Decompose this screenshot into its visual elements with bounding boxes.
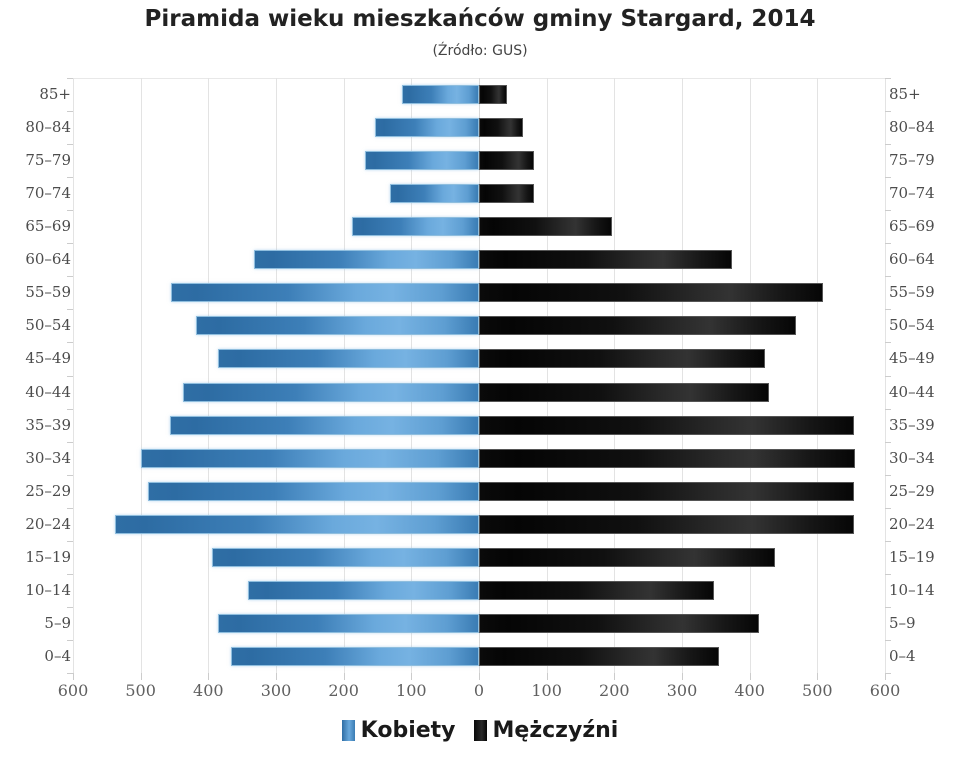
pyramid-row bbox=[73, 607, 885, 640]
bar-kobiety[interactable] bbox=[141, 449, 479, 468]
bar-kobiety[interactable] bbox=[115, 515, 479, 534]
bar-mezczyzni[interactable] bbox=[479, 383, 769, 402]
age-group-label-right: 45–49 bbox=[889, 342, 935, 375]
y-axis-tick-right bbox=[885, 673, 891, 674]
age-group-label-left: 45–49 bbox=[25, 342, 71, 375]
pyramid-row bbox=[73, 541, 885, 574]
legend-label: Kobiety bbox=[361, 718, 456, 743]
age-group-label-right: 60–64 bbox=[889, 243, 935, 276]
bar-kobiety[interactable] bbox=[196, 316, 479, 335]
x-axis-tick bbox=[276, 673, 277, 680]
x-axis-tick bbox=[614, 673, 615, 680]
age-group-label-right: 30–34 bbox=[889, 442, 935, 475]
x-axis-label: 600 bbox=[855, 681, 915, 700]
bar-kobiety[interactable] bbox=[375, 118, 479, 137]
pyramid-row bbox=[73, 409, 885, 442]
x-axis-label: 500 bbox=[111, 681, 171, 700]
x-axis-tick bbox=[208, 673, 209, 680]
bar-mezczyzni[interactable] bbox=[479, 316, 796, 335]
age-group-label-right: 70–74 bbox=[889, 177, 935, 210]
x-axis-label: 400 bbox=[720, 681, 780, 700]
age-group-label-left: 5–9 bbox=[44, 607, 71, 640]
pyramid-row bbox=[73, 508, 885, 541]
bar-mezczyzni[interactable] bbox=[479, 184, 534, 203]
x-axis-label: 500 bbox=[787, 681, 847, 700]
pyramid-row bbox=[73, 210, 885, 243]
legend-swatch-male-icon bbox=[474, 720, 487, 741]
bar-mezczyzni[interactable] bbox=[479, 85, 507, 104]
x-axis-label: 100 bbox=[381, 681, 441, 700]
age-group-label-left: 85+ bbox=[39, 78, 71, 111]
x-axis-label: 200 bbox=[584, 681, 644, 700]
bar-mezczyzni[interactable] bbox=[479, 283, 823, 302]
age-group-label-left: 30–34 bbox=[25, 442, 71, 475]
age-group-label-right: 15–19 bbox=[889, 541, 935, 574]
x-axis-tick bbox=[411, 673, 412, 680]
x-axis-tick bbox=[141, 673, 142, 680]
legend-label: Mężczyźni bbox=[493, 718, 619, 743]
bar-kobiety[interactable] bbox=[231, 647, 479, 666]
age-group-label-left: 10–14 bbox=[25, 574, 71, 607]
legend-swatch-female-icon bbox=[342, 720, 355, 741]
x-axis-label: 200 bbox=[314, 681, 374, 700]
x-axis-tick bbox=[344, 673, 345, 680]
age-group-label-right: 65–69 bbox=[889, 210, 935, 243]
bar-kobiety[interactable] bbox=[170, 416, 479, 435]
x-axis-tick bbox=[479, 673, 480, 680]
bar-mezczyzni[interactable] bbox=[479, 416, 854, 435]
pyramid-row bbox=[73, 574, 885, 607]
pyramid-row bbox=[73, 276, 885, 309]
age-group-label-left: 50–54 bbox=[25, 309, 71, 342]
age-group-label-left: 0–4 bbox=[44, 640, 71, 673]
x-axis-label: 300 bbox=[246, 681, 306, 700]
bar-kobiety[interactable] bbox=[218, 349, 479, 368]
pyramid-row bbox=[73, 442, 885, 475]
age-group-label-left: 35–39 bbox=[25, 409, 71, 442]
age-group-label-right: 10–14 bbox=[889, 574, 935, 607]
age-group-label-right: 20–24 bbox=[889, 508, 935, 541]
bar-kobiety[interactable] bbox=[218, 614, 479, 633]
bar-kobiety[interactable] bbox=[254, 250, 479, 269]
bar-kobiety[interactable] bbox=[390, 184, 479, 203]
x-axis-tick bbox=[885, 673, 886, 680]
bar-kobiety[interactable] bbox=[148, 482, 479, 501]
x-axis-tick bbox=[817, 673, 818, 680]
chart-title: Piramida wieku mieszkańców gminy Stargar… bbox=[0, 6, 960, 32]
bar-mezczyzni[interactable] bbox=[479, 151, 534, 170]
bar-kobiety[interactable] bbox=[183, 383, 479, 402]
bar-mezczyzni[interactable] bbox=[479, 515, 854, 534]
age-group-label-left: 25–29 bbox=[25, 475, 71, 508]
pyramid-row bbox=[73, 78, 885, 111]
population-pyramid-chart: Piramida wieku mieszkańców gminy Stargar… bbox=[0, 0, 960, 768]
legend-item-male[interactable]: Mężczyźni bbox=[474, 718, 619, 743]
pyramid-row bbox=[73, 243, 885, 276]
bar-mezczyzni[interactable] bbox=[479, 581, 714, 600]
legend-item-female[interactable]: Kobiety bbox=[342, 718, 456, 743]
bar-mezczyzni[interactable] bbox=[479, 548, 775, 567]
age-group-label-right: 75–79 bbox=[889, 144, 935, 177]
bar-mezczyzni[interactable] bbox=[479, 449, 855, 468]
age-group-label-left: 70–74 bbox=[25, 177, 71, 210]
age-group-label-left: 40–44 bbox=[25, 376, 71, 409]
age-group-label-left: 65–69 bbox=[25, 210, 71, 243]
age-group-label-left: 75–79 bbox=[25, 144, 71, 177]
age-group-label-left: 55–59 bbox=[25, 276, 71, 309]
y-axis-tick-left bbox=[67, 673, 73, 674]
bar-mezczyzni[interactable] bbox=[479, 217, 612, 236]
bar-kobiety[interactable] bbox=[365, 151, 479, 170]
bar-kobiety[interactable] bbox=[212, 548, 479, 567]
bar-kobiety[interactable] bbox=[248, 581, 479, 600]
age-group-label-right: 0–4 bbox=[889, 640, 916, 673]
bar-mezczyzni[interactable] bbox=[479, 482, 854, 501]
bar-mezczyzni[interactable] bbox=[479, 118, 523, 137]
x-axis-tick bbox=[682, 673, 683, 680]
age-group-label-left: 15–19 bbox=[25, 541, 71, 574]
x-axis-tick bbox=[750, 673, 751, 680]
x-axis-label: 300 bbox=[652, 681, 712, 700]
age-group-label-right: 5–9 bbox=[889, 607, 916, 640]
pyramid-row bbox=[73, 309, 885, 342]
bar-mezczyzni[interactable] bbox=[479, 250, 732, 269]
pyramid-row bbox=[73, 144, 885, 177]
pyramid-row bbox=[73, 111, 885, 144]
age-group-label-right: 25–29 bbox=[889, 475, 935, 508]
x-axis-label: 400 bbox=[178, 681, 238, 700]
x-axis-label: 0 bbox=[449, 681, 509, 700]
plot-area bbox=[73, 78, 885, 673]
pyramid-row bbox=[73, 342, 885, 375]
bar-kobiety[interactable] bbox=[171, 283, 479, 302]
x-axis-tick bbox=[73, 673, 74, 680]
pyramid-row bbox=[73, 376, 885, 409]
age-group-label-right: 50–54 bbox=[889, 309, 935, 342]
age-group-label-right: 85+ bbox=[889, 78, 921, 111]
pyramid-row bbox=[73, 177, 885, 210]
age-group-label-left: 60–64 bbox=[25, 243, 71, 276]
pyramid-row bbox=[73, 640, 885, 673]
bar-mezczyzni[interactable] bbox=[479, 647, 719, 666]
age-group-label-left: 80–84 bbox=[25, 111, 71, 144]
bar-kobiety[interactable] bbox=[352, 217, 479, 236]
x-axis-tick bbox=[547, 673, 548, 680]
bar-kobiety[interactable] bbox=[402, 85, 479, 104]
chart-legend: KobietyMężczyźni bbox=[0, 718, 960, 743]
age-group-label-right: 35–39 bbox=[889, 409, 935, 442]
bar-mezczyzni[interactable] bbox=[479, 349, 765, 368]
bar-mezczyzni[interactable] bbox=[479, 614, 759, 633]
age-group-label-right: 55–59 bbox=[889, 276, 935, 309]
age-group-label-right: 80–84 bbox=[889, 111, 935, 144]
pyramid-row bbox=[73, 475, 885, 508]
chart-subtitle: (Źródło: GUS) bbox=[0, 43, 960, 59]
age-group-label-right: 40–44 bbox=[889, 376, 935, 409]
x-axis-label: 100 bbox=[517, 681, 577, 700]
age-group-label-left: 20–24 bbox=[25, 508, 71, 541]
x-axis-label: 600 bbox=[43, 681, 103, 700]
